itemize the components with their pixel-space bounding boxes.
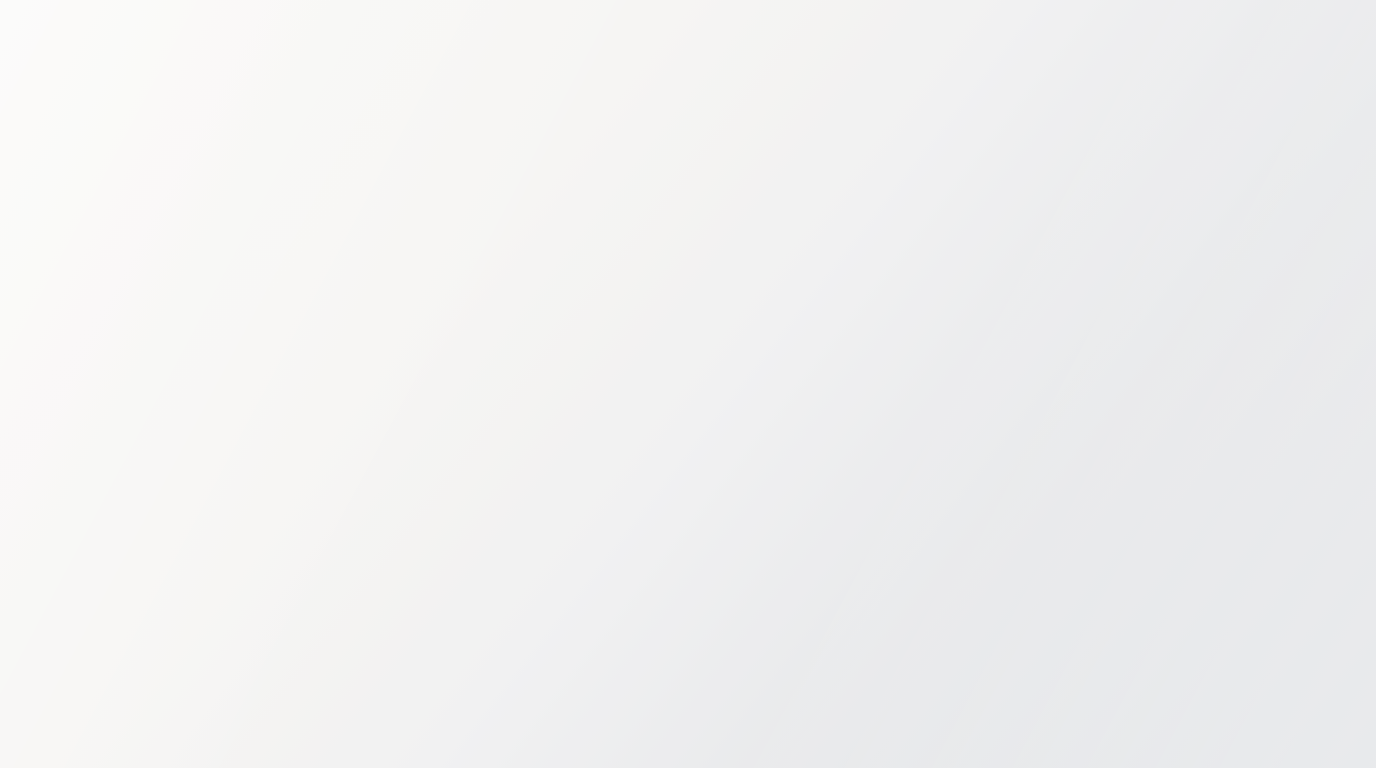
column-container	[32, 129, 1344, 731]
